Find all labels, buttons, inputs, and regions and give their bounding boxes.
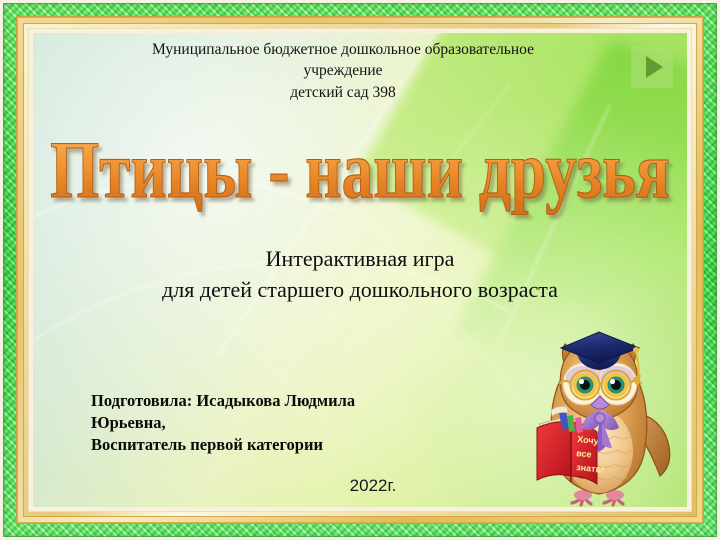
organization-heading: Муниципальное бюджетное дошкольное образ… [83,39,603,103]
year-value: 2022г. [350,476,397,495]
organization-line-2: учреждение [83,60,603,81]
author-line-1: Подготовила: Исадыкова Людмила [91,390,491,412]
author-line-3: Воспитатель первой категории [91,434,491,456]
author-credit: Подготовила: Исадыкова Людмила Юрьевна, … [91,390,491,456]
svg-text:все: все [576,448,592,460]
owl-eye-left [573,373,598,398]
slide-canvas: Муниципальное бюджетное дошкольное образ… [33,33,687,507]
slide-subtitle: Интерактивная игра для детей старшего до… [53,243,667,305]
subtitle-line-2: для детей старшего дошкольного возраста [53,274,667,305]
owl-eye-right [604,373,629,398]
organization-line-1: Муниципальное бюджетное дошкольное образ… [83,39,603,60]
subtitle-line-1: Интерактивная игра [53,243,667,274]
author-line-2: Юрьевна, [91,412,491,434]
play-triangle-icon [646,56,663,78]
play-next-button[interactable] [631,46,673,88]
organization-line-3: детский сад 398 [83,82,603,103]
presentation-slide: Муниципальное бюджетное дошкольное образ… [0,0,720,540]
owl-mascot-illustration: Хочу все знать! [531,316,681,507]
